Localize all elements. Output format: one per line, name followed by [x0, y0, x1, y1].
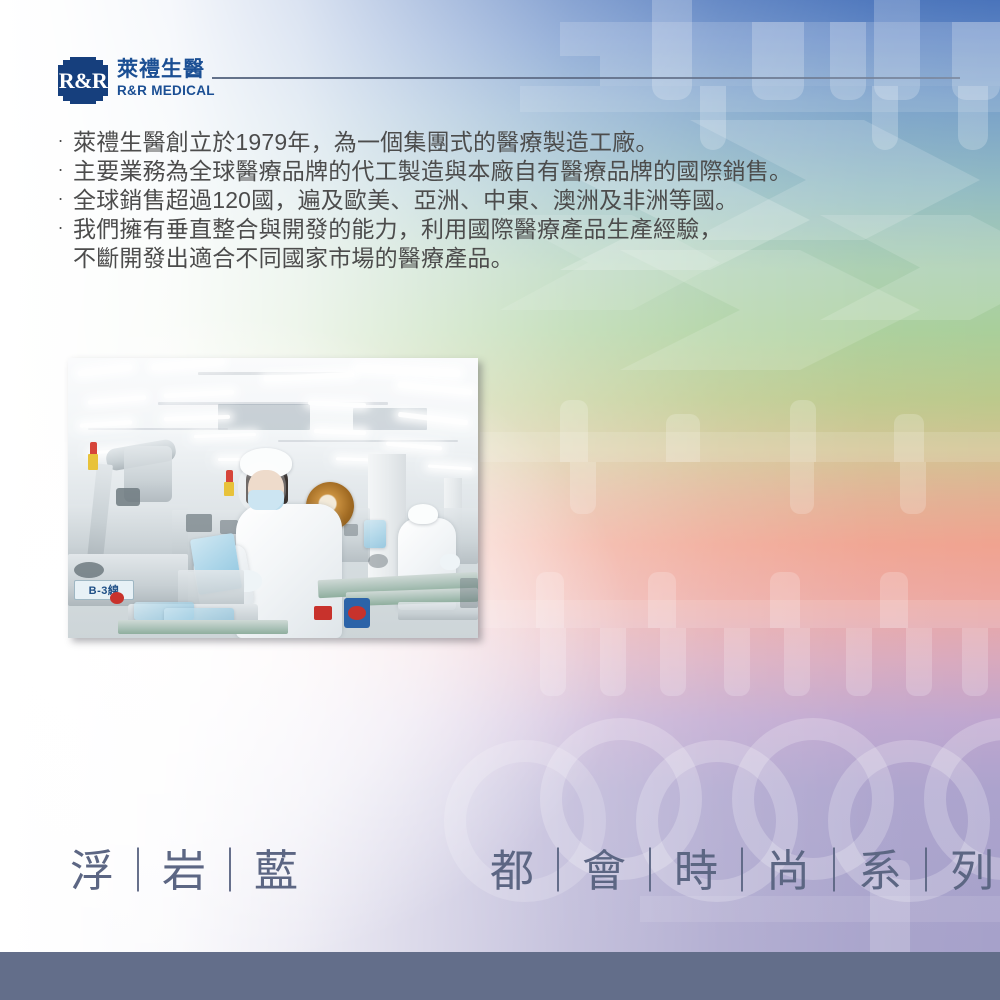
header: R&R 萊禮生醫 R&R MEDICAL: [0, 0, 1000, 120]
bullet-marker-icon: ‧: [58, 157, 73, 186]
series-title-right: 都｜會｜時｜尚｜系｜列: [490, 845, 996, 899]
rr-logo-icon: R&R: [58, 57, 108, 104]
list-item: ‧ 全球銷售超過120國，遍及歐美、亞洲、中東、澳洲及非洲等國。: [58, 186, 938, 215]
factory-photo-image: B-3線: [68, 358, 478, 638]
list-item-text: 萊禮生醫創立於1979年，為一個集團式的醫療製造工廠。: [73, 128, 938, 157]
list-item-text: 主要業務為全球醫療品牌的代工製造與本廠自有醫療品牌的國際銷售。: [73, 157, 938, 186]
list-item: ‧ 萊禮生醫創立於1979年，為一個集團式的醫療製造工廠。: [58, 128, 938, 157]
intro-bullet-list: ‧ 萊禮生醫創立於1979年，為一個集團式的醫療製造工廠。 ‧ 主要業務為全球醫…: [58, 128, 938, 273]
footer-bar: [0, 952, 1000, 1000]
list-item-text: 不斷開發出適合不同國家市場的醫療產品。: [73, 244, 938, 273]
brand-logo[interactable]: R&R 萊禮生醫 R&R MEDICAL: [58, 57, 215, 104]
header-divider: [212, 77, 960, 79]
brand-wordmark: 萊禮生醫 R&R MEDICAL: [117, 57, 215, 99]
series-title-left: 浮｜岩｜藍: [70, 845, 300, 899]
list-item-text: 全球銷售超過120國，遍及歐美、亞洲、中東、澳洲及非洲等國。: [73, 186, 938, 215]
bullet-marker-icon: ‧: [58, 186, 73, 215]
brand-name-cn: 萊禮生醫: [117, 58, 215, 82]
logo-mark-label: R&R: [59, 70, 108, 92]
brand-name-en: R&R MEDICAL: [117, 82, 215, 99]
bullet-marker-icon: ‧: [58, 215, 73, 244]
list-item: ‧ 不斷開發出適合不同國家市場的醫療產品。: [58, 244, 938, 273]
list-item-text: 我們擁有垂直整合與開發的能力，利用國際醫療產品生產經驗，: [73, 215, 938, 244]
list-item: ‧ 我們擁有垂直整合與開發的能力，利用國際醫療產品生產經驗，: [58, 215, 938, 244]
slide-canvas: R&R 萊禮生醫 R&R MEDICAL ‧ 萊禮生醫創立於1979年，為一個集…: [0, 0, 1000, 1000]
factory-photo: B-3線: [68, 358, 478, 638]
list-item: ‧ 主要業務為全球醫療品牌的代工製造與本廠自有醫療品牌的國際銷售。: [58, 157, 938, 186]
photo-line-sign: B-3線: [74, 580, 134, 600]
bullet-marker-icon: ‧: [58, 128, 73, 157]
